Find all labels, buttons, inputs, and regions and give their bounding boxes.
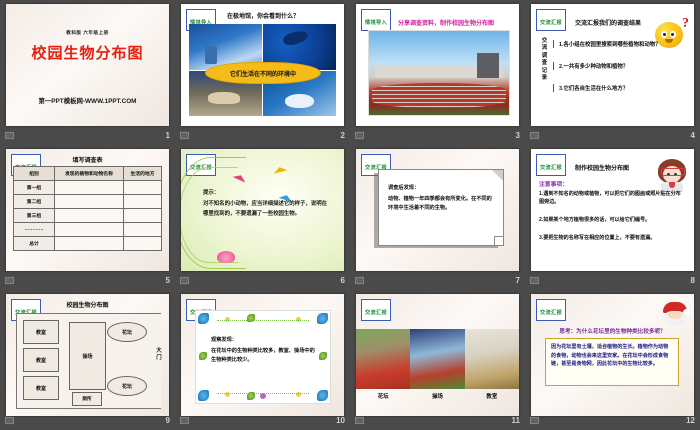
- slide7-body: 调查后发现： 动物、植物一年四季都会有所变化。在不同的环境中生活着不同的生物。: [388, 184, 494, 213]
- slide-2-number: 2: [341, 131, 345, 140]
- slide1-site: 第一PPT模板网-WWW.1PPT.COM: [6, 96, 169, 105]
- question-mark-icon: ?: [682, 16, 689, 32]
- slide9-title: 校园生物分布图: [6, 300, 169, 309]
- slide6-text: 对不知名的小动物，应当详细描述它的样子，说明在哪里找到的，不要遗漏了一些校园生物…: [203, 201, 327, 216]
- slide3-title: 分享调查资料，制作校园生物分布图: [398, 18, 519, 27]
- table-row-label-0: 第一组: [14, 181, 55, 195]
- slide-8-number: 8: [691, 276, 695, 285]
- slide12-answer: 因为花坛里有土壤，适合植物的生长。植物作为动物的食物，动物也会来这里安家。在花坛…: [551, 343, 673, 369]
- slide-6-number: 6: [341, 276, 345, 285]
- slide4-question-3: 3.它们各自生活在什么地方？: [553, 84, 677, 92]
- girl-cartoon-character: [656, 158, 690, 192]
- slide-thumbnail-icon: [530, 131, 539, 140]
- slide-2[interactable]: 情境导入 在极地馆，你会看到什么？ 它们生活在不同的环境中: [181, 4, 344, 126]
- playground-track-photo: [410, 329, 464, 389]
- slide10-text: 在花坛中的生物种类比较多，教室、操场中的生物种类比较少。: [211, 348, 315, 363]
- slide-11-footer: 11: [350, 411, 525, 430]
- slide-thumbnail-icon: [5, 416, 14, 425]
- slide7-lead: 调查后发现：: [388, 184, 494, 193]
- campus-track: [372, 83, 506, 108]
- survey-table: 组别 发现的植物和动物名称 生活的地方 第一组 第二组 第三组 ………… 总计: [13, 166, 162, 251]
- flower-icon: [317, 390, 328, 401]
- lotus-flower-icon: [217, 251, 235, 263]
- slide-11[interactable]: 交流汇报 花坛 操场 教室: [356, 294, 519, 416]
- slide-cell-9[interactable]: 交流汇报 校园生物分布图 教室 教室 教室 操场 厕所 花坛 花坛 大门 9: [0, 290, 175, 430]
- table-row-label-3: …………: [14, 223, 55, 237]
- table-row-label-1: 第二组: [14, 195, 55, 209]
- slide-10-number: 10: [336, 416, 345, 425]
- map-flowerbed-2: 花坛: [107, 376, 147, 396]
- slide10-lead: 观察发现：: [211, 336, 319, 345]
- slide-9[interactable]: 交流汇报 校园生物分布图 教室 教室 教室 操场 厕所 花坛 花坛 大门: [6, 294, 169, 416]
- table-row: 总计: [14, 237, 162, 251]
- slide-7-footer: 7: [350, 271, 525, 290]
- slide-1[interactable]: 教科版 六年级上册 校园生物分布图 第一PPT模板网-WWW.1PPT.COM: [6, 4, 169, 126]
- slide-1-number: 1: [166, 131, 170, 140]
- slide-4-number: 4: [691, 131, 695, 140]
- slide8-badge: 交流汇报: [536, 154, 566, 176]
- slide-cell-10[interactable]: 交流汇报 观察发现： 在花坛中的生物种类比较多，教室、操: [175, 290, 350, 430]
- map-gate: 大门: [155, 348, 163, 362]
- slide12-answer-box: 因为花坛里有土壤，适合植物的生长。植物作为动物的食物，动物也会来这里安家。在花坛…: [545, 338, 679, 386]
- slide8-notice-title: 注意事项：: [539, 179, 568, 188]
- girl-glasses-icon: [661, 168, 685, 176]
- slide2-title: 在极地馆，你会看到什么？: [227, 11, 344, 20]
- map-classroom-3: 教室: [23, 376, 59, 400]
- slide-8[interactable]: 交流汇报 制作校园生物分布图 注意事项： 1.遇到不知名的动物或植物，可以把它们…: [531, 149, 694, 271]
- slide-cell-5[interactable]: 交流汇报 填写调查表 组别 发现的植物和动物名称 生活的地方 第一组 第二组 第…: [0, 145, 175, 290]
- emoji-eye-right: [670, 31, 676, 38]
- slide-2-footer: 2: [175, 126, 350, 145]
- slide1-subtitle: 教科版 六年级上册: [6, 30, 169, 36]
- slide11-labels: 花坛 操场 教室: [356, 392, 519, 400]
- slide-cell-11[interactable]: 交流汇报 花坛 操场 教室 11: [350, 290, 525, 430]
- slide-9-number: 9: [166, 416, 170, 425]
- slide-thumbnail-icon: [355, 131, 364, 140]
- flowerbed-photo: [356, 329, 410, 389]
- slide8-notice-3: 3.要把生物的名称写在相应的位置上，不要有遗漏。: [539, 235, 685, 243]
- santa-face: [668, 311, 682, 319]
- slide-thumbnail-grid: 教科版 六年级上册 校园生物分布图 第一PPT模板网-WWW.1PPT.COM …: [0, 0, 700, 430]
- slide3-badge: 情境导入: [361, 9, 391, 31]
- slide-thumbnail-icon: [530, 416, 539, 425]
- slide-thumbnail-icon: [180, 276, 189, 285]
- slide-4-footer: 4: [525, 126, 700, 145]
- paper-plane-icon-yellow: [273, 165, 288, 173]
- table-header-2: 生活的地方: [124, 167, 162, 181]
- note-card: 调查后发现： 动物、植物一年四季都会有所变化。在不同的环境中生活着不同的生物。: [378, 169, 504, 246]
- slide-8-footer: 8: [525, 271, 700, 290]
- slide4-question-2: 2.一共有多少种动物和植物？: [553, 62, 677, 70]
- campus-distribution-map: 教室 教室 教室 操场 厕所 花坛 花坛 大门: [16, 313, 161, 409]
- slide8-notice-2: 2.如果某个地方植物很多的话，可以给它们编号。: [539, 217, 685, 225]
- slide-thumbnail-icon: [530, 276, 539, 285]
- slide-3-footer: 3: [350, 126, 525, 145]
- slide-3-number: 3: [516, 131, 520, 140]
- slide-5-footer: 5: [0, 271, 175, 290]
- slide4-vertical-label: 交流调查记录: [540, 38, 549, 82]
- slide11-badge: 交流汇报: [361, 299, 391, 321]
- campus-tower: [477, 53, 499, 78]
- leaf-icon: [319, 352, 327, 360]
- slide6-lead: 提示：: [203, 189, 327, 198]
- table-row: 第一组: [14, 181, 162, 195]
- slide2-callout: 它们生活在不同的环境中: [205, 62, 321, 84]
- slide-cell-8[interactable]: 交流汇报 制作校园生物分布图 注意事项： 1.遇到不知名的动物或植物，可以把它们…: [525, 145, 700, 290]
- slide-12-footer: 12: [525, 411, 700, 430]
- slide12-question: 思考：为什么花坛里的生物种类比较多呢？: [531, 327, 694, 335]
- table-row: …………: [14, 223, 162, 237]
- slide-cell-7[interactable]: 交流汇报 调查后发现： 动物、植物一年四季都会有所变化。在不同的环境中生活着不同…: [350, 145, 525, 290]
- slide11-photo-row: [356, 329, 519, 389]
- slide-thumbnail-icon: [355, 416, 364, 425]
- slide-cell-2[interactable]: 情境导入 在极地馆，你会看到什么？ 它们生活在不同的环境中 2: [175, 0, 350, 145]
- table-row: 第二组: [14, 195, 162, 209]
- vine-decoration: [217, 320, 308, 321]
- flower-icon: [317, 313, 328, 324]
- santa-cartoon-character: [659, 302, 691, 328]
- slide4-question-1: 1.各小组在校园里搜索到哪些植物和动物？: [553, 40, 677, 48]
- slide-7-number: 7: [516, 276, 520, 285]
- flower-icon: [198, 313, 209, 324]
- slide-thumbnail-icon: [180, 131, 189, 140]
- slide-7[interactable]: 交流汇报 调查后发现： 动物、植物一年四季都会有所变化。在不同的环境中生活着不同…: [356, 149, 519, 271]
- map-toilet: 厕所: [72, 392, 102, 406]
- slide1-title: 校园生物分布图: [6, 42, 169, 63]
- slide6-body: 提示： 对不知名的小动物，应当详细描述它的样子，说明在哪里找到的，不要遗漏了一些…: [203, 189, 327, 219]
- slide-10-footer: 10: [175, 411, 350, 430]
- table-header-0: 组别: [14, 167, 55, 181]
- map-playground: 操场: [69, 322, 106, 390]
- slide12-badge: 交流汇报: [536, 299, 566, 321]
- slide-5-number: 5: [166, 276, 170, 285]
- slide8-notice-1: 1.遇到不知名的动物或植物，可以把它们的图画或照片贴在分布图旁边。: [539, 191, 685, 206]
- slide11-label-2: 操场: [410, 392, 464, 400]
- note-bottom-corner: [494, 236, 503, 245]
- table-header-1: 发现的植物和动物名称: [55, 167, 124, 181]
- slide-6-footer: 6: [175, 271, 350, 290]
- slide-cell-1[interactable]: 教科版 六年级上册 校园生物分布图 第一PPT模板网-WWW.1PPT.COM …: [0, 0, 175, 145]
- slide-5[interactable]: 交流汇报 填写调查表 组别 发现的植物和动物名称 生活的地方 第一组 第二组 第…: [6, 149, 169, 271]
- slide-thumbnail-icon: [180, 416, 189, 425]
- slide-9-footer: 9: [0, 411, 175, 430]
- slide-12-number: 12: [686, 416, 695, 425]
- map-flowerbed-1: 花坛: [107, 322, 147, 342]
- emoji-eye-left: [661, 31, 667, 38]
- slide-12[interactable]: 交流汇报 思考：为什么花坛里的生物种类比较多呢？ 因为花坛里有土壤，适合植物的生…: [531, 294, 694, 416]
- flower-icon: [198, 390, 209, 401]
- slide-cell-3[interactable]: 情境导入 分享调查资料，制作校园生物分布图 3: [350, 0, 525, 145]
- table-row-label-4: 总计: [14, 237, 55, 251]
- table-row: 第三组: [14, 209, 162, 223]
- map-classroom-2: 教室: [23, 348, 59, 372]
- school-campus-track-photo: [368, 30, 510, 116]
- leaf-icon: [199, 352, 207, 360]
- slide-cell-12[interactable]: 交流汇报 思考：为什么花坛里的生物种类比较多呢？ 因为花坛里有土壤，适合植物的生…: [525, 290, 700, 430]
- slide-3[interactable]: 情境导入 分享调查资料，制作校园生物分布图: [356, 4, 519, 126]
- slide-cell-6[interactable]: 交流汇报 提示： 对不知名的小动物，应当详细描述它的样子，说明在哪里找到的，不要…: [175, 145, 350, 290]
- slide-11-number: 11: [512, 416, 520, 425]
- slide-thumbnail-icon: [5, 131, 14, 140]
- vine-decoration: [217, 393, 308, 394]
- map-classroom-1: 教室: [23, 320, 59, 344]
- slide7-text: 动物、植物一年四季都会有所变化。在不同的环境中生活着不同的生物。: [388, 196, 492, 211]
- slide-10[interactable]: 交流汇报 观察发现： 在花坛中的生物种类比较多，教室、操: [181, 294, 344, 416]
- slide-thumbnail-icon: [355, 276, 364, 285]
- slide10-body: 观察发现： 在花坛中的生物种类比较多，教室、操场中的生物种类比较少。: [211, 336, 319, 365]
- slide-thumbnail-icon: [5, 276, 14, 285]
- slide11-label-1: 花坛: [356, 392, 410, 400]
- slide5-title: 填写调查表: [6, 155, 169, 164]
- slide-4[interactable]: 交流汇报 交流汇报我们的调查结果 ? 交流调查记录 1.各小组在校园里搜索到哪些…: [531, 4, 694, 126]
- table-header-row: 组别 发现的植物和动物名称 生活的地方: [14, 167, 162, 181]
- table-row-label-2: 第三组: [14, 209, 55, 223]
- slide11-label-3: 教室: [465, 392, 519, 400]
- slide-cell-4[interactable]: 交流汇报 交流汇报我们的调查结果 ? 交流调查记录 1.各小组在校园里搜索到哪些…: [525, 0, 700, 145]
- slide4-badge: 交流汇报: [536, 9, 566, 31]
- slide-1-footer: 1: [0, 126, 175, 145]
- slide-6[interactable]: 交流汇报 提示： 对不知名的小动物，应当详细描述它的样子，说明在哪里找到的，不要…: [181, 149, 344, 271]
- folded-corner-icon: [492, 170, 503, 181]
- classroom-photo: [465, 329, 519, 389]
